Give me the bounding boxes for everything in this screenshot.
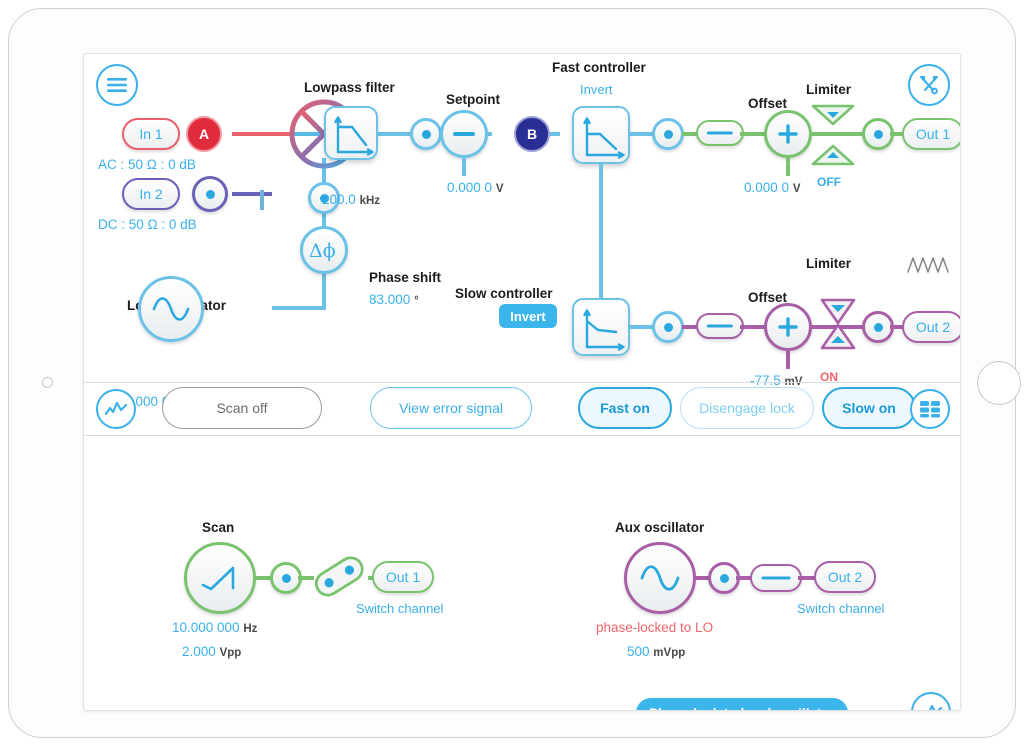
lowpass-response-icon: [326, 108, 380, 162]
hamburger-glyph: [106, 77, 128, 93]
setpoint-title: Setpoint: [446, 92, 500, 107]
slow-gain-bar[interactable]: [696, 313, 744, 339]
generators-panel: Scan Out 1: [84, 436, 960, 711]
fast-offset-number: 0.000 0: [744, 180, 789, 195]
slow-offset-element[interactable]: [764, 303, 812, 351]
fast-controller-output-node[interactable]: [652, 118, 684, 150]
phase-lock-button-label: Phase-lock to local oscillator: [649, 706, 835, 712]
limiter-up-triangle-icon: [810, 142, 856, 168]
grid-layout-icon[interactable]: [910, 389, 950, 429]
setpoint-number: 0.000 0: [447, 180, 492, 195]
switch-tilted-icon: [308, 546, 370, 606]
fast-controller-title: Fast controller: [552, 60, 646, 75]
scan-output-label: Out 1: [386, 569, 420, 585]
fast-limiter-title: Limiter: [806, 82, 851, 97]
disengage-lock-label: Disengage lock: [699, 400, 795, 416]
aux-gain-bar[interactable]: [750, 564, 802, 592]
signal-trace-icon-right[interactable]: [911, 692, 951, 711]
scan-frequency-number: 10.000 000: [172, 620, 240, 635]
aux-oscillator-element[interactable]: [624, 542, 696, 614]
view-error-signal-button[interactable]: View error signal: [370, 387, 532, 429]
aux-amplitude-value[interactable]: 500 mVpp: [627, 644, 685, 659]
fast-limiter-state[interactable]: OFF: [817, 175, 841, 189]
output-2-label: Out 2: [916, 319, 950, 335]
phase-lock-to-local-oscillator-button[interactable]: Phase-lock to local oscillator: [636, 698, 848, 711]
aux-output-label: Out 2: [828, 569, 862, 585]
lowpass-filter-title: Lowpass filter: [304, 80, 395, 95]
bar-glyph: [707, 325, 733, 328]
node-dot: [422, 130, 431, 139]
scan-generator-element[interactable]: [184, 542, 256, 614]
node-dot: [874, 130, 883, 139]
fast-offset-value[interactable]: 0.000 0 V: [744, 180, 800, 195]
scan-toggle-button[interactable]: Scan off: [162, 387, 322, 429]
scan-frequency-unit: Hz: [243, 623, 257, 635]
badge-b[interactable]: B: [514, 116, 550, 152]
fast-offset-title: Offset: [748, 96, 787, 111]
hamburger-menu-icon[interactable]: [96, 64, 138, 106]
grid-glyph: [918, 399, 942, 419]
scan-amplitude-value[interactable]: 2.000 Vpp: [182, 644, 241, 659]
lowpass-unit: kHz: [360, 195, 380, 207]
pi-controller-response-icon: [574, 300, 632, 358]
node-dot: [206, 190, 215, 199]
lowpass-number: 200.0: [322, 192, 356, 207]
limiter-up-triangle-icon: [818, 321, 858, 351]
input-2-settings[interactable]: DC : 50 Ω : 0 dB: [98, 217, 197, 232]
fast-controller-invert[interactable]: Invert: [580, 82, 613, 97]
fast-limiter-upper-bound[interactable]: [810, 102, 856, 133]
input-1-settings[interactable]: AC : 50 Ω : 0 dB: [98, 157, 196, 172]
bar-glyph: [707, 132, 733, 135]
aux-output-pill[interactable]: Out 2: [814, 561, 876, 593]
tools-glyph: [917, 73, 941, 97]
signal-trace-glyph: [919, 702, 943, 711]
view-error-signal-label: View error signal: [399, 400, 503, 416]
bar-glyph: [762, 577, 791, 580]
svg-text:Δϕ: Δϕ: [309, 240, 336, 262]
piezo-resonance-icon: [906, 254, 952, 281]
node-dot: [282, 574, 291, 583]
input-2-label: In 2: [139, 186, 162, 202]
local-oscillator-element[interactable]: [138, 276, 204, 342]
input-1-label: In 1: [139, 126, 162, 142]
scan-toggle-label: Scan off: [216, 400, 267, 416]
aux-oscillator-title: Aux oscillator: [615, 520, 704, 535]
slow-controller-invert[interactable]: Invert: [499, 304, 557, 328]
slow-controller-element[interactable]: [572, 298, 630, 356]
fast-offset-element[interactable]: [764, 110, 812, 158]
badge-a[interactable]: A: [186, 116, 222, 152]
fast-limiter-lower-bound[interactable]: [810, 142, 856, 173]
lowpass-filter-value[interactable]: 200.0 kHz: [322, 192, 380, 207]
output-1-label: Out 1: [916, 126, 950, 142]
scan-title: Scan: [202, 520, 234, 535]
plus-icon: [776, 122, 800, 146]
scan-amplitude-number: 2.000: [182, 644, 216, 659]
input-1-pill[interactable]: In 1: [122, 118, 180, 150]
slow-limiter-lower-bound[interactable]: [818, 321, 858, 356]
home-button[interactable]: [977, 361, 1021, 405]
scan-channel-switch[interactable]: [308, 546, 370, 606]
tools-wrench-screwdriver-icon[interactable]: [908, 64, 950, 106]
node-dot: [874, 323, 883, 332]
tablet-device-frame: In 1 AC : 50 Ω : 0 dB A In 2 DC : 50 Ω :…: [8, 8, 1016, 738]
setpoint-unit: V: [496, 183, 504, 195]
slow-lock-toggle-button[interactable]: Slow on: [822, 387, 916, 429]
disengage-lock-button[interactable]: Disengage lock: [680, 387, 814, 429]
slow-invert-label: Invert: [510, 309, 545, 324]
sawtooth-wave-icon: [199, 564, 241, 592]
aux-switch-channel-link[interactable]: Switch channel: [797, 601, 884, 616]
fast-gain-bar[interactable]: [696, 120, 744, 146]
delta-phi-icon: Δϕ: [308, 238, 340, 262]
slow-limiter-title: Limiter: [806, 256, 851, 271]
front-camera: [42, 377, 53, 388]
input-2-node[interactable]: [192, 176, 228, 212]
phase-shift-number: 83.000: [369, 292, 410, 307]
output-2-pill[interactable]: Out 2: [902, 311, 961, 343]
node-dot: [664, 323, 673, 332]
phase-shift-value[interactable]: 83.000 °: [369, 292, 419, 307]
sine-wave-icon: [151, 296, 191, 322]
node-dot: [664, 130, 673, 139]
control-toolbar: Scan off View error signal Fast on Disen…: [84, 383, 960, 435]
aux-amplitude-unit: mVpp: [653, 647, 685, 659]
fast-lock-toggle-button[interactable]: Fast on: [578, 387, 672, 429]
signal-trace-glyph: [104, 399, 128, 419]
plus-icon: [776, 315, 800, 339]
scan-frequency-value[interactable]: 10.000 000 Hz: [172, 620, 257, 635]
aux-status: phase-locked to LO: [596, 620, 713, 635]
scan-output-pill[interactable]: Out 1: [372, 561, 434, 593]
limiter-down-triangle-icon: [810, 102, 856, 128]
app-screen: In 1 AC : 50 Ω : 0 dB A In 2 DC : 50 Ω :…: [83, 53, 961, 711]
lowpass-output-node[interactable]: [410, 118, 442, 150]
badge-b-label: B: [527, 126, 537, 142]
lowpass-filter-element[interactable]: [324, 106, 378, 160]
node-dot: [720, 574, 729, 583]
setpoint-element[interactable]: [440, 110, 488, 158]
output-1-pill[interactable]: Out 1: [902, 118, 961, 150]
scan-amplitude-unit: Vpp: [220, 647, 242, 659]
signal-chain-panel: In 1 AC : 50 Ω : 0 dB A In 2 DC : 50 Ω :…: [84, 54, 960, 382]
scan-switch-channel-link[interactable]: Switch channel: [356, 601, 443, 616]
sine-wave-icon: [638, 564, 682, 592]
minus-icon: [453, 132, 475, 135]
phase-shift-unit: °: [414, 295, 419, 307]
input-2-pill[interactable]: In 2: [122, 178, 180, 210]
fast-controller-element[interactable]: [572, 106, 630, 164]
phase-shift-title: Phase shift: [369, 270, 441, 285]
aux-amplitude-number: 500: [627, 644, 650, 659]
slow-lock-toggle-label: Slow on: [842, 400, 896, 416]
fast-lock-toggle-label: Fast on: [600, 400, 650, 416]
signal-trace-icon-left[interactable]: [96, 389, 136, 429]
badge-a-label: A: [199, 126, 209, 142]
slow-controller-output-node[interactable]: [652, 311, 684, 343]
pi-controller-response-icon: [574, 108, 632, 166]
setpoint-value[interactable]: 0.000 0 V: [447, 180, 503, 195]
phase-shift-element[interactable]: Δϕ: [300, 226, 348, 274]
slow-controller-title: Slow controller: [455, 286, 553, 301]
fast-offset-unit: V: [793, 183, 801, 195]
